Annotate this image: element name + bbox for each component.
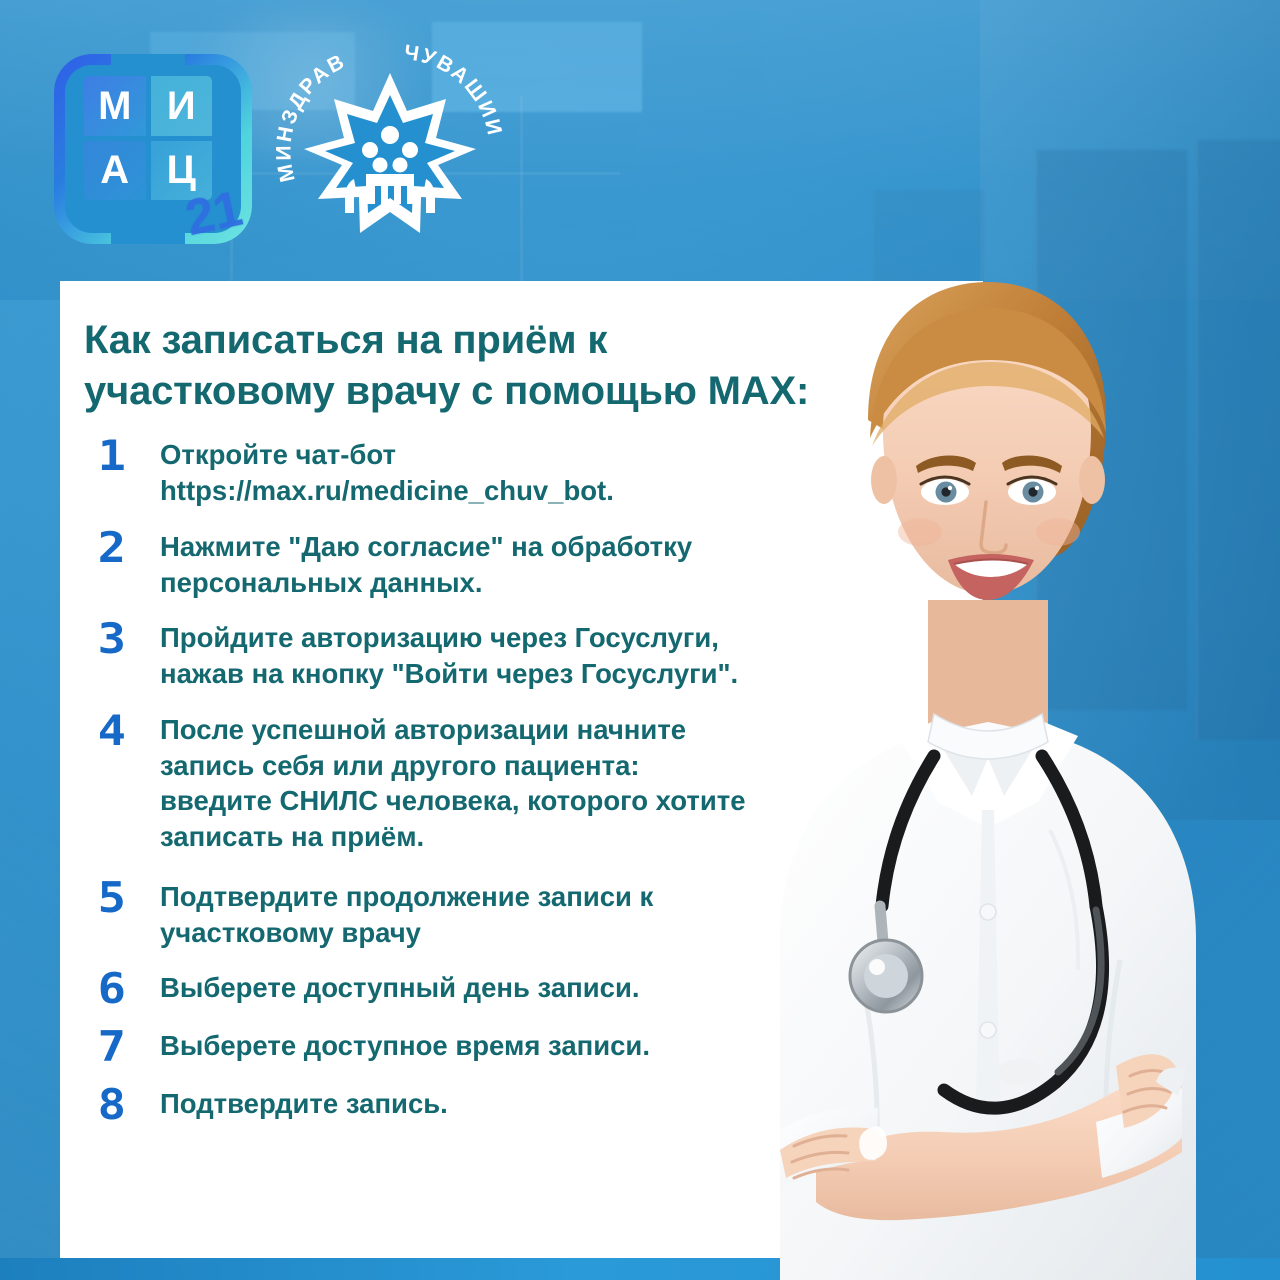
- emblem-ring-text-left: МИНЗДРАВ: [273, 49, 350, 184]
- step-text: Подтвердите запись.: [160, 1086, 448, 1122]
- list-item: 4 После успешной авторизации начните зап…: [82, 710, 955, 855]
- step-number: 1: [82, 435, 169, 477]
- list-item: 2 Нажмите "Даю согласие" на обработку пе…: [82, 527, 955, 601]
- miac-tile-a: А: [84, 141, 146, 201]
- minzdrav-chuvashii-emblem: МИНЗДРАВ ЧУВАШИИ: [270, 37, 510, 247]
- miac-tile-i: И: [151, 76, 213, 136]
- list-item: 8 Подтвердите запись.: [82, 1084, 955, 1126]
- list-item: 1 Откройте чат-бот https://max.ru/medici…: [82, 435, 955, 509]
- list-item: 5 Подтвердите продолжение записи к участ…: [82, 877, 955, 951]
- info-card: Как записаться на приём к участковому вр…: [60, 281, 983, 1258]
- step-number: 7: [82, 1026, 169, 1068]
- step-number: 5: [82, 877, 169, 919]
- step-text: Пройдите авторизацию через Госуслуги, на…: [160, 620, 738, 692]
- bottom-accent-bar: [0, 1258, 1280, 1280]
- step-text: Нажмите "Даю согласие" на обработку перс…: [160, 529, 692, 601]
- page-title: Как записаться на приём к участковому вр…: [84, 315, 955, 417]
- step-text: Подтвердите продолжение записи к участко…: [160, 879, 653, 951]
- step-number: 3: [82, 618, 169, 660]
- step-text: Выберете доступное время записи.: [160, 1028, 650, 1064]
- miac-region-code: 21: [181, 179, 247, 247]
- step-number: 8: [82, 1084, 169, 1126]
- list-item: 3 Пройдите авторизацию через Госуслуги, …: [82, 618, 955, 692]
- steps-list: 1 Откройте чат-бот https://max.ru/medici…: [82, 435, 955, 1126]
- logo-row: М И А Ц 21: [48, 42, 510, 242]
- poster-root: М И А Ц 21: [0, 0, 1280, 1280]
- list-item: 7 Выберете доступное время записи.: [82, 1026, 955, 1068]
- step-number: 6: [82, 968, 169, 1010]
- miac-letter-tiles: М И А Ц: [84, 76, 212, 200]
- step-text: Выберете доступный день записи.: [160, 970, 640, 1006]
- step-number: 2: [82, 527, 169, 569]
- step-text: После успешной авторизации начните запис…: [160, 712, 746, 855]
- list-item: 6 Выберете доступный день записи.: [82, 968, 955, 1010]
- miac-tile-m: М: [84, 76, 146, 136]
- miac-logo: М И А Ц 21: [48, 46, 248, 238]
- svg-text:МИНЗДРАВ: МИНЗДРАВ: [273, 49, 350, 184]
- step-text: Откройте чат-бот https://max.ru/medicine…: [160, 437, 614, 509]
- step-number: 4: [82, 710, 169, 752]
